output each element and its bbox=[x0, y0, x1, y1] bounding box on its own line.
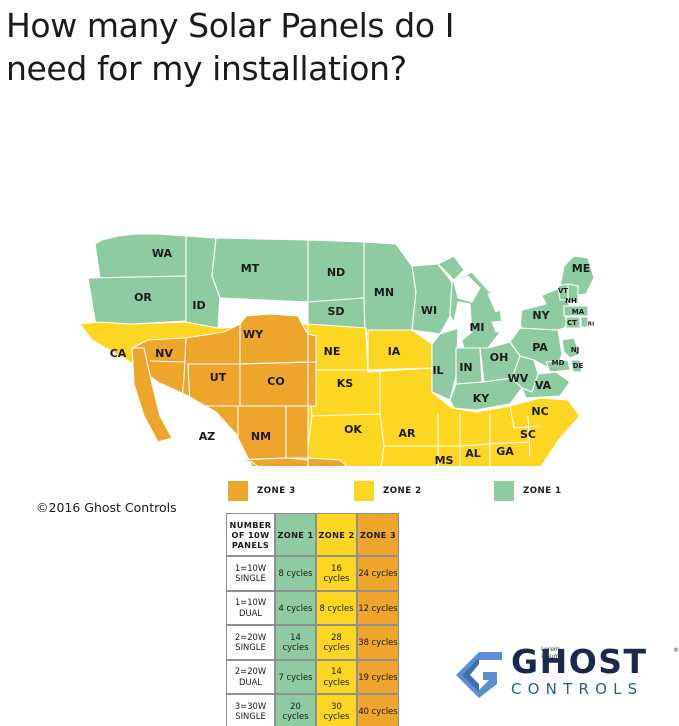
panel-label-line-1: 1=10W bbox=[227, 563, 274, 574]
table-body: 1=10WSINGLE8 cycles16 cycles24 cycles1=1… bbox=[226, 556, 399, 726]
panel-label-line-2: SINGLE bbox=[227, 711, 274, 722]
map-label-ms: MS bbox=[435, 454, 454, 466]
legend-swatch-zone-1-icon bbox=[494, 481, 514, 501]
map-label-sc: SC bbox=[520, 428, 536, 441]
legend-item-zone-2: ZONE 2 bbox=[354, 481, 422, 501]
table-cell-zone3-cycles: 12 cycles bbox=[357, 591, 399, 626]
table-cell-zone1-cycles: 4 cycles bbox=[275, 591, 316, 626]
map-label-nv: NV bbox=[155, 347, 173, 360]
logo-micro-line-1: Lorem bbox=[541, 646, 560, 653]
table-cell-zone2-cycles: 16 cycles bbox=[316, 556, 357, 591]
map-label-nj: NJ bbox=[571, 346, 579, 354]
table-cell-panel-label: 1=10WDUAL bbox=[226, 591, 275, 626]
ghost-controls-wordmark: GHOST CONTROLS ® bbox=[511, 645, 673, 698]
map-label-md: MD bbox=[552, 359, 565, 367]
table-cell-zone1-cycles: 20 cycles bbox=[275, 694, 316, 726]
map-label-co: CO bbox=[267, 375, 284, 388]
map-label-pa: PA bbox=[532, 341, 548, 354]
map-label-nc: NC bbox=[531, 405, 548, 418]
page-title: How many Solar Panels do I need for my i… bbox=[6, 4, 606, 90]
map-label-ks: KS bbox=[337, 377, 354, 390]
table-header-panels-line-3: PANELS bbox=[227, 540, 274, 550]
map-label-ia: IA bbox=[388, 345, 401, 358]
poster-canvas: How many Solar Panels do I need for my i… bbox=[0, 0, 679, 726]
map-label-ct: CT bbox=[567, 319, 577, 327]
logo-micro-line-2: ipsum bbox=[541, 653, 560, 660]
table-cell-zone3-cycles: 40 cycles bbox=[357, 694, 399, 726]
table-header-zone-2: ZONE 2 bbox=[316, 513, 357, 556]
map-svg: WAORIDMTNDSDMNWIMIIANEILINOHKYWVVAPANYME… bbox=[40, 116, 640, 466]
page-title-line-2: need for my installation? bbox=[6, 47, 606, 90]
copyright-text: ©2016 Ghost Controls bbox=[36, 500, 177, 515]
panel-label-line-1: 2=20W bbox=[227, 666, 274, 677]
table-cell-zone2-cycles: 8 cycles bbox=[316, 591, 357, 626]
table-row: 2=20WDUAL7 cycles14 cycles19 cycles bbox=[226, 660, 399, 695]
page-title-line-1: How many Solar Panels do I bbox=[6, 4, 606, 47]
map-label-nh: NH bbox=[565, 297, 577, 305]
map-label-az: AZ bbox=[199, 430, 216, 443]
table-cell-zone3-cycles: 19 cycles bbox=[357, 660, 399, 695]
table-cell-panel-label: 2=20WDUAL bbox=[226, 660, 275, 695]
logo-word-controls: CONTROLS bbox=[511, 680, 673, 698]
map-label-ca: CA bbox=[110, 347, 127, 360]
table-header-panels-line-1: NUMBER bbox=[227, 520, 274, 530]
map-label-ky: KY bbox=[473, 392, 491, 405]
solar-cycles-table: NUMBER OF 10W PANELS ZONE 1 ZONE 2 ZONE … bbox=[226, 513, 399, 726]
ghost-g-mark-icon bbox=[455, 651, 503, 699]
map-label-mi: MI bbox=[469, 321, 484, 334]
legend-item-zone-3: ZONE 3 bbox=[228, 481, 296, 501]
panel-label-line-2: DUAL bbox=[227, 608, 274, 619]
map-label-ma: MA bbox=[572, 308, 585, 316]
map-label-il: IL bbox=[432, 364, 443, 377]
map-label-ar: AR bbox=[399, 427, 417, 440]
map-label-wi: WI bbox=[421, 304, 437, 317]
map-legend: ZONE 3 ZONE 2 ZONE 1 bbox=[228, 481, 668, 503]
map-label-al: AL bbox=[465, 447, 481, 460]
panel-label-line-1: 2=20W bbox=[227, 632, 274, 643]
map-label-or: OR bbox=[134, 291, 152, 304]
table-cell-panel-label: 1=10WSINGLE bbox=[226, 556, 275, 591]
legend-label-zone-1: ZONE 1 bbox=[523, 486, 562, 496]
table-cell-zone1-cycles: 8 cycles bbox=[275, 556, 316, 591]
map-label-nd: ND bbox=[327, 266, 345, 279]
legend-item-zone-1: ZONE 1 bbox=[494, 481, 562, 501]
legend-swatch-zone-3-icon bbox=[228, 481, 248, 501]
legend-swatch-zone-2-icon bbox=[354, 481, 374, 501]
table-cell-zone1-cycles: 7 cycles bbox=[275, 660, 316, 695]
table-row: 3=30WSINGLE20 cycles30 cycles40 cycles bbox=[226, 694, 399, 726]
map-label-in: IN bbox=[459, 361, 472, 374]
map-label-de: DE bbox=[573, 362, 584, 370]
logo-registered-mark: ® bbox=[673, 647, 679, 654]
table-cell-zone2-cycles: 30 cycles bbox=[316, 694, 357, 726]
map-label-sd: SD bbox=[327, 305, 344, 318]
map-label-ne: NE bbox=[324, 345, 341, 358]
table-header-zone-3: ZONE 3 bbox=[357, 513, 399, 556]
map-label-wv: WV bbox=[508, 372, 529, 385]
table-cell-zone2-cycles: 14 cycles bbox=[316, 660, 357, 695]
usa-solar-zone-map: WAORIDMTNDSDMNWIMIIANEILINOHKYWVVAPANYME… bbox=[40, 116, 640, 466]
lake-erie bbox=[492, 320, 522, 332]
table-header: NUMBER OF 10W PANELS ZONE 1 ZONE 2 ZONE … bbox=[226, 513, 399, 556]
table-row: 1=10WSINGLE8 cycles16 cycles24 cycles bbox=[226, 556, 399, 591]
panel-label-line-2: SINGLE bbox=[227, 642, 274, 653]
table-header-zone-1: ZONE 1 bbox=[275, 513, 316, 556]
logo-word-ghost: GHOST bbox=[511, 645, 673, 679]
map-label-ny: NY bbox=[532, 309, 550, 322]
panel-label-line-2: SINGLE bbox=[227, 573, 274, 584]
state-shape-co-east bbox=[308, 334, 316, 406]
table-row: 1=10WDUAL4 cycles8 cycles12 cycles bbox=[226, 591, 399, 626]
table-cell-zone3-cycles: 38 cycles bbox=[357, 625, 399, 660]
table-row: 2=20WSINGLE14 cycles28 cycles38 cycles bbox=[226, 625, 399, 660]
legend-label-zone-2: ZONE 2 bbox=[383, 486, 422, 496]
panel-label-line-1: 3=30W bbox=[227, 701, 274, 712]
state-shape-mt bbox=[212, 238, 308, 302]
map-label-mn: MN bbox=[374, 286, 394, 299]
map-label-ut: UT bbox=[210, 371, 227, 384]
table-cell-zone1-cycles: 14 cycles bbox=[275, 625, 316, 660]
table-header-panels: NUMBER OF 10W PANELS bbox=[226, 513, 275, 556]
map-label-nm: NM bbox=[251, 430, 271, 443]
map-label-va: VA bbox=[535, 379, 552, 392]
map-label-mt: MT bbox=[241, 262, 260, 275]
table-cell-panel-label: 2=20WSINGLE bbox=[226, 625, 275, 660]
map-label-wy: WY bbox=[243, 328, 264, 341]
map-label-vt: VT bbox=[558, 287, 568, 295]
map-label-wa: WA bbox=[152, 247, 173, 260]
state-shape-wi bbox=[412, 264, 452, 334]
map-label-me: ME bbox=[572, 262, 590, 275]
table-header-row: NUMBER OF 10W PANELS ZONE 1 ZONE 2 ZONE … bbox=[226, 513, 399, 556]
panel-label-line-2: DUAL bbox=[227, 677, 274, 688]
table-cell-zone2-cycles: 28 cycles bbox=[316, 625, 357, 660]
panel-label-line-1: 1=10W bbox=[227, 597, 274, 608]
table-cell-zone3-cycles: 24 cycles bbox=[357, 556, 399, 591]
table-header-panels-line-2: OF 10W bbox=[227, 530, 274, 540]
state-shape-wa bbox=[95, 234, 186, 278]
table-cell-panel-label: 3=30WSINGLE bbox=[226, 694, 275, 726]
map-label-ga: GA bbox=[496, 445, 514, 458]
ghost-controls-logo: GHOST CONTROLS ® Lorem ipsum bbox=[455, 645, 673, 707]
map-label-oh: OH bbox=[490, 351, 509, 364]
map-label-id: ID bbox=[192, 299, 205, 312]
map-label-ri: RI bbox=[588, 322, 594, 328]
legend-label-zone-3: ZONE 3 bbox=[257, 486, 296, 496]
map-label-ok: OK bbox=[344, 423, 362, 436]
logo-micro-text: Lorem ipsum bbox=[541, 646, 560, 660]
